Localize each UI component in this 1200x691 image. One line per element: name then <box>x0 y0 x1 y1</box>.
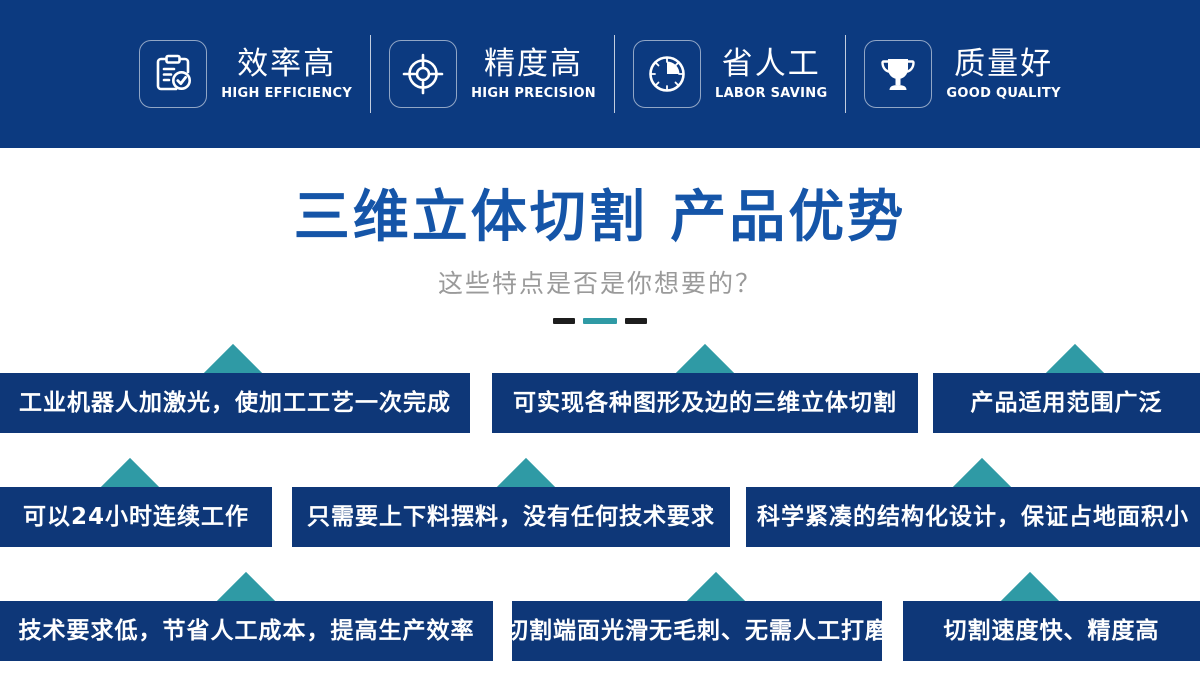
feature-text: 质量好 GOOD QUALITY <box>946 47 1060 102</box>
feature-text: 效率高 HIGH EFFICIENCY <box>221 47 352 102</box>
feature-labor-saving: 省人工 LABOR SAVING <box>615 40 845 108</box>
advantage-card[interactable]: 可以24小时连续工作 <box>0 487 272 547</box>
divider-dashes <box>0 318 1200 324</box>
feature-title-en: HIGH PRECISION <box>471 86 596 101</box>
trophy-icon <box>864 40 932 108</box>
advantage-label: 只需要上下料摆料，没有任何技术要求 <box>307 506 715 529</box>
title-block: 三维立体切割 产品优势 这些特点是否是你想要的？ <box>0 148 1200 348</box>
feature-high-precision: 精度高 HIGH PRECISION <box>371 40 614 108</box>
advantage-label: 切割端面光滑无毛刺、无需人工打磨 <box>505 620 889 643</box>
advantage-card[interactable]: 切割速度快、精度高 <box>903 601 1200 661</box>
advantage-card[interactable]: 工业机器人加激光，使加工工艺一次完成 <box>0 373 470 433</box>
advantage-card[interactable]: 可实现各种图形及边的三维立体切割 <box>492 373 918 433</box>
feature-title-cn: 精度高 <box>471 47 596 83</box>
advantage-label: 科学紧凑的结构化设计，保证占地面积小 <box>757 506 1189 529</box>
clock-icon <box>633 40 701 108</box>
feature-title-en: GOOD QUALITY <box>946 86 1060 101</box>
feature-list: 效率高 HIGH EFFICIENCY <box>121 35 1079 113</box>
page-subtitle: 这些特点是否是你想要的？ <box>0 264 1200 300</box>
advantage-card[interactable]: 产品适用范围广泛 <box>933 373 1200 433</box>
advantage-card[interactable]: 只需要上下料摆料，没有任何技术要求 <box>292 487 730 547</box>
dash-center <box>583 318 617 324</box>
feature-high-efficiency: 效率高 HIGH EFFICIENCY <box>121 40 370 108</box>
feature-text: 精度高 HIGH PRECISION <box>471 47 596 102</box>
feature-title-cn: 质量好 <box>946 47 1060 83</box>
feature-good-quality: 质量好 GOOD QUALITY <box>846 40 1078 108</box>
advantages-infographic: 效率高 HIGH EFFICIENCY <box>0 0 1200 691</box>
header-feature-band: 效率高 HIGH EFFICIENCY <box>0 0 1200 148</box>
advantage-label: 产品适用范围广泛 <box>971 392 1163 415</box>
feature-text: 省人工 LABOR SAVING <box>715 47 827 102</box>
dash-left <box>553 318 575 324</box>
advantage-label: 工业机器人加激光，使加工工艺一次完成 <box>19 392 451 415</box>
advantage-label: 技术要求低，节省人工成本，提高生产效率 <box>19 620 475 643</box>
advantage-label: 可实现各种图形及边的三维立体切割 <box>513 392 897 415</box>
advantage-card[interactable]: 科学紧凑的结构化设计，保证占地面积小 <box>746 487 1200 547</box>
feature-title-en: LABOR SAVING <box>715 86 827 101</box>
advantage-card[interactable]: 技术要求低，节省人工成本，提高生产效率 <box>0 601 493 661</box>
page-title: 三维立体切割 产品优势 <box>0 186 1200 250</box>
dash-right <box>625 318 647 324</box>
advantage-card[interactable]: 切割端面光滑无毛刺、无需人工打磨 <box>512 601 882 661</box>
target-crosshair-icon <box>389 40 457 108</box>
feature-title-cn: 效率高 <box>221 47 352 83</box>
clipboard-check-icon <box>139 40 207 108</box>
feature-title-cn: 省人工 <box>715 47 827 83</box>
feature-title-en: HIGH EFFICIENCY <box>221 86 352 101</box>
advantage-label: 切割速度快、精度高 <box>944 620 1160 643</box>
advantage-label: 可以24小时连续工作 <box>23 506 249 529</box>
